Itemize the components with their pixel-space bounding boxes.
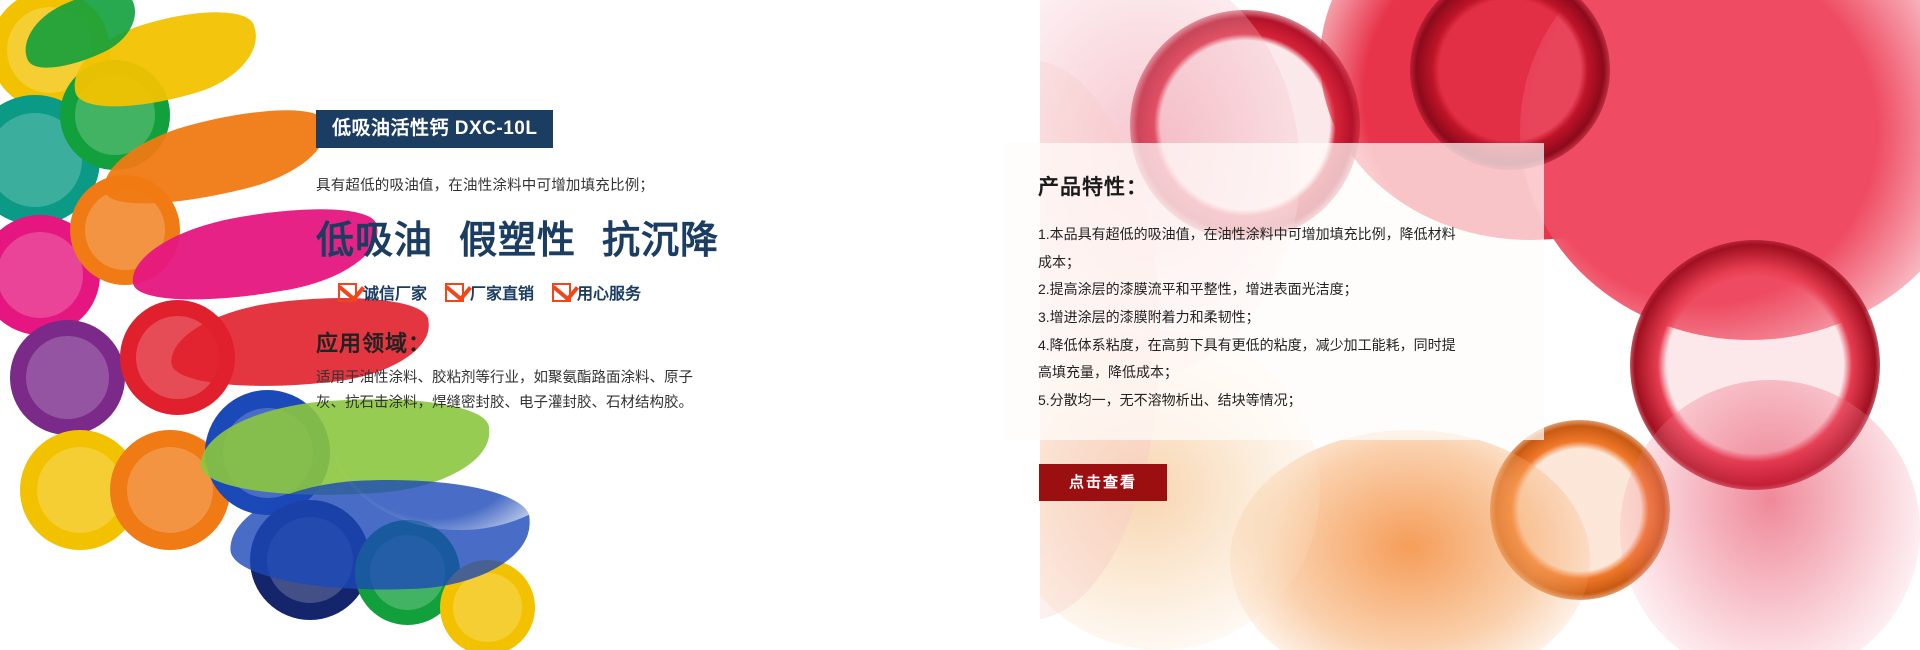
feature-line-5: 4.降低体系粘度，在高剪下具有更低的粘度，减少加工能耗，同时提: [1038, 334, 1510, 357]
feature-line-6: 高填充量，降低成本；: [1038, 361, 1510, 384]
trust-badge-2: 厂家直销: [445, 280, 534, 304]
checkbox-checked-icon: [552, 283, 571, 302]
trust-badge-3: 用心服务: [552, 280, 641, 304]
headline-word-1: 低吸油: [316, 217, 433, 262]
product-name-tag: 低吸油活性钙 DXC-10L: [316, 110, 553, 148]
paint-pot-purple: [10, 320, 125, 435]
feature-line-1: 1.本品具有超低的吸油值，在油性涂料中可增加填充比例，降低材料: [1038, 223, 1510, 246]
left-content-block: 低吸油活性钙 DXC-10L 具有超低的吸油值，在油性涂料中可增加填充比例； 低…: [316, 110, 736, 417]
features-panel-title: 产品特性：: [1038, 171, 1510, 201]
feature-line-7: 5.分散均一，无不溶物析出、结块等情况；: [1038, 389, 1510, 412]
trust-badge-label-3: 用心服务: [577, 280, 641, 304]
headline-word-2: 假塑性: [459, 217, 576, 262]
features-list: 1.本品具有超低的吸油值，在油性涂料中可增加填充比例，降低材料 成本； 2.提高…: [1038, 223, 1510, 412]
trust-badge-1: 诚信厂家: [338, 280, 427, 304]
headline-word-3: 抗沉降: [602, 217, 719, 262]
trust-badge-list: 诚信厂家 厂家直销 用心服务: [316, 280, 736, 304]
feature-line-4: 3.增进涂层的漆膜附着力和柔韧性；: [1038, 306, 1510, 329]
application-field-title: 应用领域：: [316, 326, 736, 358]
product-subtitle: 具有超低的吸油值，在油性涂料中可增加填充比例；: [316, 174, 736, 195]
checkbox-checked-icon: [338, 283, 357, 302]
product-features-panel: 产品特性： 1.本品具有超低的吸油值，在油性涂料中可增加填充比例，降低材料 成本…: [1004, 143, 1544, 440]
trust-badge-label-2: 厂家直销: [470, 280, 534, 304]
promo-banner: 低吸油活性钙 DXC-10L 具有超低的吸油值，在油性涂料中可增加填充比例； 低…: [0, 0, 1920, 650]
application-field-body: 适用于油性涂料、胶粘剂等行业，如聚氨酯路面涂料、原子灰、抗石击涂料，焊缝密封胶、…: [316, 366, 716, 417]
headline-keywords: 低吸油假塑性抗沉降: [316, 209, 736, 264]
feature-line-2: 成本；: [1038, 251, 1510, 274]
trust-badge-label-1: 诚信厂家: [363, 280, 427, 304]
checkbox-checked-icon: [445, 283, 464, 302]
feature-line-3: 2.提高涂层的漆膜流平和平整性，增进表面光洁度；: [1038, 278, 1510, 301]
view-details-button[interactable]: 点击查看: [1039, 464, 1167, 501]
